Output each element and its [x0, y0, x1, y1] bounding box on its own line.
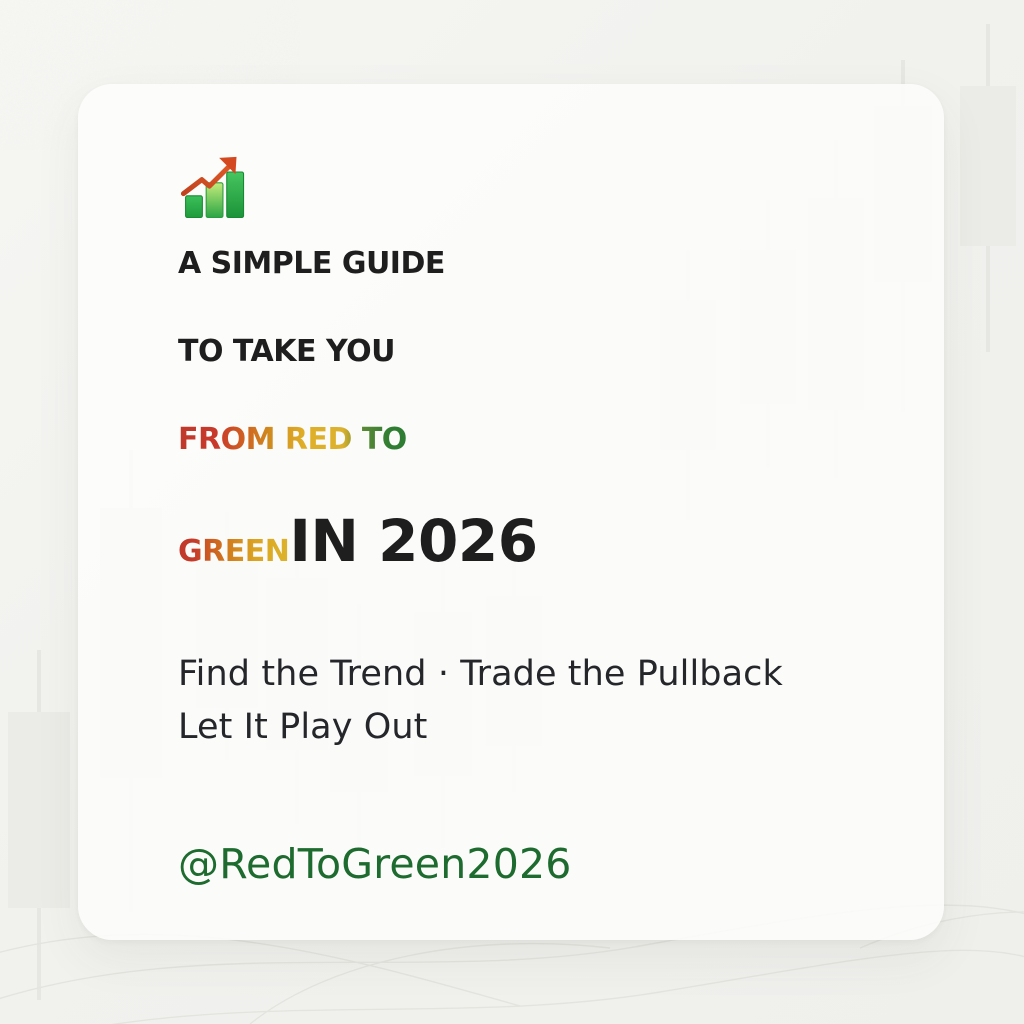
headline-line-1: A SIMPLE GUIDE [178, 250, 904, 338]
poster-canvas: A SIMPLE GUIDE TO TAKE YOU FROM RED TO G… [0, 0, 1024, 1024]
subtitle: Find the Trend · Trade the Pullback Let … [178, 648, 904, 754]
card-content: A SIMPLE GUIDE TO TAKE YOU FROM RED TO G… [178, 146, 904, 888]
headline-gradient-from-red-to: FROM RED TO [178, 426, 407, 455]
subtitle-line-1: Find the Trend · Trade the Pullback [178, 648, 904, 701]
headline-year-tail: IN 2026 [289, 507, 537, 575]
content-card: A SIMPLE GUIDE TO TAKE YOU FROM RED TO G… [78, 84, 944, 940]
headline-line-4: GREENIN 2026 [178, 514, 904, 602]
chart-increasing-icon [178, 146, 256, 224]
headline-gradient-green: GREEN [178, 538, 289, 567]
page-title: A SIMPLE GUIDE TO TAKE YOU FROM RED TO G… [178, 250, 904, 602]
social-handle[interactable]: @RedToGreen2026 [178, 840, 904, 888]
headline-line-2: TO TAKE YOU [178, 338, 904, 426]
headline-line-3: FROM RED TO [178, 426, 904, 514]
subtitle-line-2: Let It Play Out [178, 701, 904, 754]
